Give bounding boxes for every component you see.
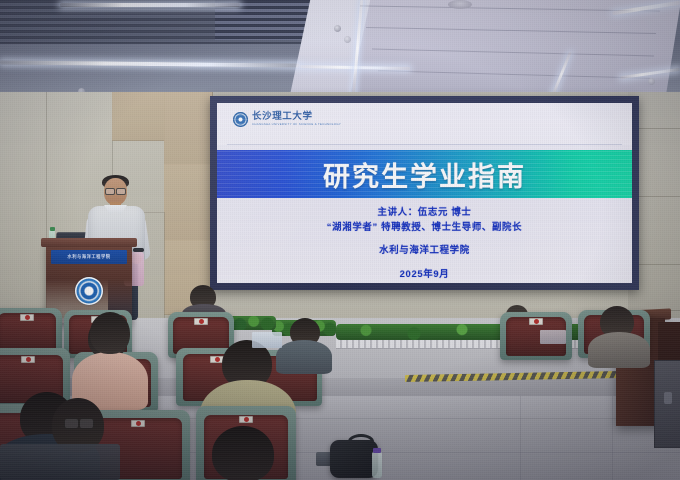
podium-banner: 水利与海洋工程学院	[51, 250, 127, 264]
bottle-cap	[50, 227, 55, 231]
equipment-cabinet	[654, 360, 680, 448]
university-name-cn: 长沙理工大学	[252, 113, 341, 123]
slide-subtitle-line: 主讲人：伍志元 博士	[217, 205, 632, 220]
slide-subtitle-line: 水利与海洋工程学院	[217, 243, 632, 258]
audience-laptop-screen	[252, 332, 282, 348]
slide-title-bar: 研究生学业指南	[217, 150, 632, 198]
slide-subtitle-block: 主讲人：伍志元 博士 “湖湘学者” 特聘教授、博士生导师、副院长 水利与海洋工程…	[217, 203, 632, 281]
audience-shoulders	[588, 332, 650, 368]
wall-accent-panel	[164, 164, 213, 241]
sprinkler-head-icon	[344, 36, 351, 43]
backpack	[330, 440, 378, 478]
university-seal-icon	[75, 277, 103, 305]
bottle-cap	[373, 448, 381, 453]
ceiling-led-strip	[60, 3, 240, 7]
university-name-en: CHANGSHA UNIVERSITY OF SCIENCE & TECHNOL…	[252, 123, 341, 126]
audience-laptop-screen	[540, 330, 566, 344]
seat-number-plate	[21, 356, 35, 363]
slide-subtitle-line: 2025年9月	[217, 267, 632, 282]
audience-head	[212, 426, 274, 480]
podium-top-surface	[41, 238, 137, 247]
slide-title: 研究生学业指南	[323, 155, 526, 194]
sprinkler-head-icon	[648, 78, 655, 85]
wall-accent-panel	[112, 92, 165, 141]
water-bottle	[372, 452, 382, 478]
university-crest-icon	[233, 112, 248, 127]
seat-number-plate	[239, 416, 253, 423]
cabinet-handle	[664, 392, 672, 404]
slide-divider	[227, 144, 622, 145]
foreground-desk	[0, 444, 120, 480]
projection-screen: 长沙理工大学 CHANGSHA UNIVERSITY OF SCIENCE & …	[210, 96, 639, 290]
seat-number-plate	[194, 318, 208, 325]
ceiling-panel-right	[336, 0, 680, 94]
glasses-icon	[64, 418, 94, 427]
audience-head	[90, 312, 130, 354]
audience-shoulders	[276, 340, 332, 374]
slide-header: 长沙理工大学 CHANGSHA UNIVERSITY OF SCIENCE & …	[217, 103, 632, 145]
seat-number-plate	[529, 318, 543, 325]
glasses-icon	[105, 188, 126, 193]
seat-number-plate	[131, 420, 145, 427]
ceiling-vent	[448, 0, 472, 9]
wall-panel	[0, 92, 47, 323]
podium-banner-text: 水利与海洋工程学院	[67, 254, 110, 260]
ceiling	[0, 0, 680, 96]
sprinkler-head-icon	[334, 25, 341, 32]
lecture-hall-photo: 长沙理工大学 CHANGSHA UNIVERSITY OF SCIENCE & …	[0, 0, 680, 480]
wall-accent-panel	[164, 92, 213, 165]
university-logo: 长沙理工大学 CHANGSHA UNIVERSITY OF SCIENCE & …	[233, 112, 341, 127]
seat-number-plate	[20, 314, 34, 321]
projected-slide: 长沙理工大学 CHANGSHA UNIVERSITY OF SCIENCE & …	[217, 103, 632, 283]
ceiling-led-strip	[0, 60, 300, 67]
slide-subtitle-line: “湖湘学者” 特聘教授、博士生导师、副院长	[217, 220, 632, 235]
